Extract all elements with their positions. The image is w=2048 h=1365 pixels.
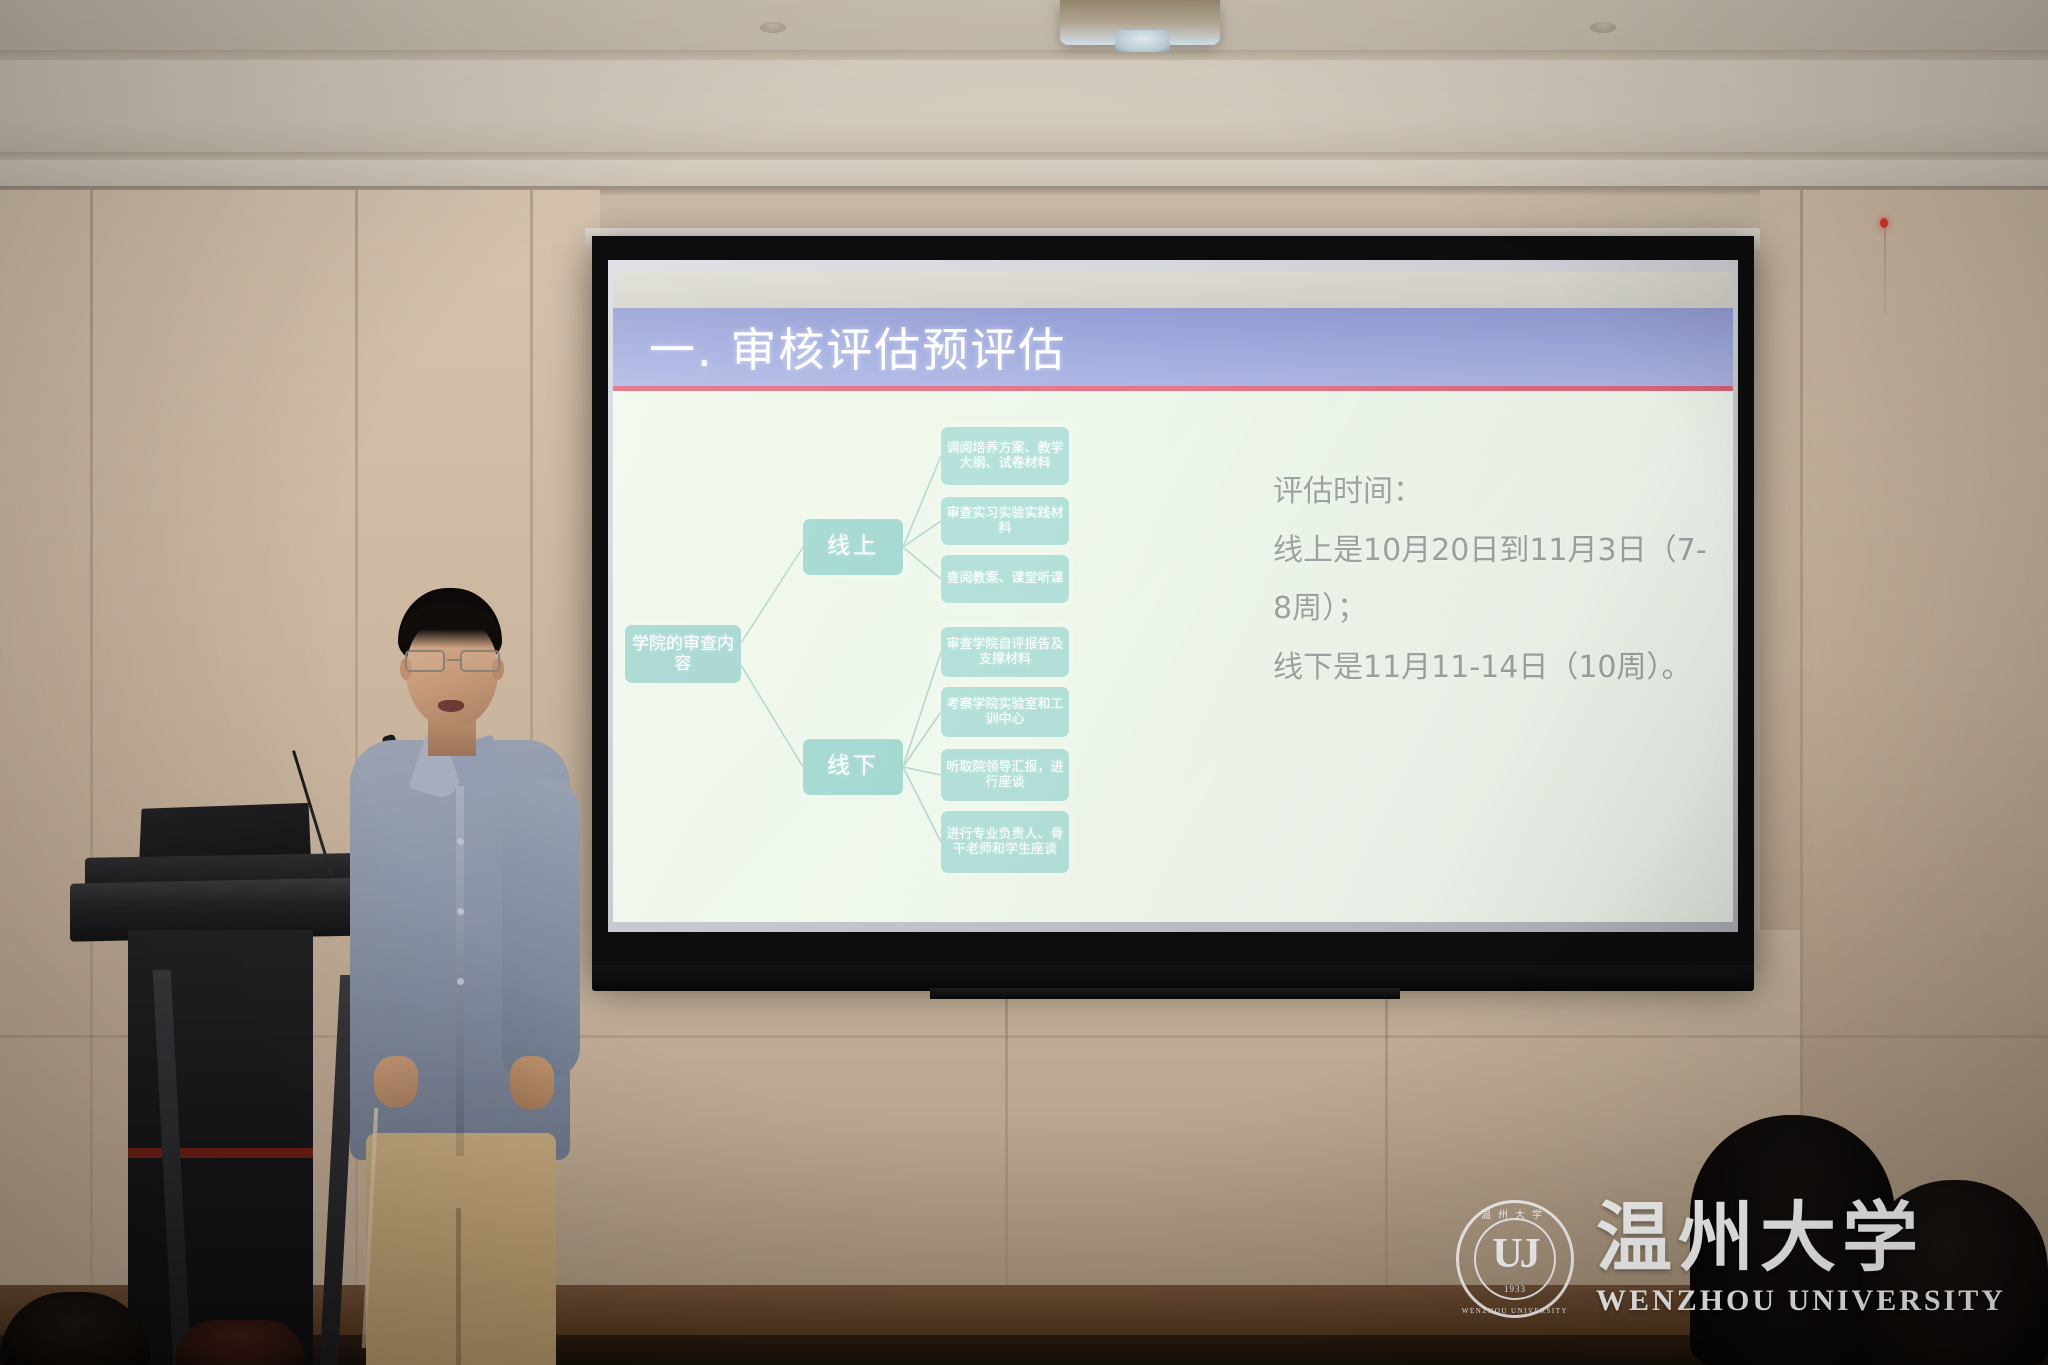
diagram-leaf-node: 调阅培养方案、教学大纲、试卷材料 bbox=[941, 427, 1069, 485]
presenter-hand-right bbox=[510, 1056, 554, 1110]
slide-text-block: 评估时间： 线上是10月20日到11月3日（7-8周）； 线下是11月11-14… bbox=[1273, 463, 1713, 697]
indicator-light bbox=[1880, 218, 1888, 228]
slide-body: 学院的审查内容 线上 线下 调阅培养方案、教学大纲、试卷材料 审查实习实验实践材… bbox=[613, 391, 1733, 922]
smoke-detector-icon bbox=[760, 22, 786, 33]
diagram-root-node: 学院的审查内容 bbox=[625, 625, 741, 683]
diagram-leaf-node: 听取院领导汇报，进行座谈 bbox=[941, 749, 1069, 801]
slide-text-heading: 评估时间： bbox=[1273, 463, 1713, 522]
glasses-icon bbox=[402, 650, 504, 674]
ceiling-upper-panel bbox=[0, 0, 2048, 52]
ceiling-main-panel bbox=[0, 60, 2048, 160]
presenter-shirt-button bbox=[457, 838, 464, 845]
slide-text-line-online: 线上是10月20日到11月3日（7-8周）； bbox=[1273, 522, 1713, 639]
photo-scene: 一. 审核评估预评估 bbox=[0, 0, 2048, 1365]
glasses-lens-left bbox=[405, 650, 445, 672]
slide-title-bar: 一. 审核评估预评估 bbox=[613, 308, 1733, 386]
diagram-leaf-node: 审查学院自评报告及支撑材料 bbox=[941, 627, 1069, 677]
presenter-arm-right bbox=[502, 778, 580, 1078]
presenter-shirt-button bbox=[457, 908, 464, 915]
projector-lens-icon bbox=[1115, 30, 1170, 52]
audience-member bbox=[175, 1320, 305, 1365]
diagram-leaf-node: 考察学院实验室和工训中心 bbox=[941, 687, 1069, 737]
podium-accent-stripe bbox=[128, 1148, 313, 1158]
audience-member bbox=[1862, 1180, 2048, 1365]
presenter-hair-fringe bbox=[400, 606, 500, 648]
diagram-leaf-node: 进行专业负责人、骨干老师和学生座谈 bbox=[941, 811, 1069, 873]
diagram-leaf-node: 审查实习实验实践材料 bbox=[941, 497, 1069, 545]
slide-top-strip bbox=[613, 272, 1733, 310]
presentation-slide: 一. 审核评估预评估 bbox=[613, 272, 1733, 922]
presenter-arm-left bbox=[346, 778, 424, 1078]
presenter-hand-left bbox=[374, 1056, 418, 1108]
presenter bbox=[360, 588, 620, 1365]
presenter-trousers bbox=[366, 1133, 556, 1365]
projection-screen-weight-bar bbox=[930, 988, 1400, 999]
ceiling-soffit bbox=[0, 160, 2048, 188]
wall-panel-seam bbox=[90, 190, 93, 1365]
hanging-wire bbox=[1884, 228, 1886, 318]
presenter-mouth bbox=[438, 700, 464, 712]
slide-text-line-offline: 线下是11月11-14日（10周）。 bbox=[1273, 639, 1713, 698]
smoke-detector-icon bbox=[1590, 22, 1616, 33]
presenter-trouser-seam bbox=[456, 1208, 461, 1365]
diagram-leaf-node: 查阅教案、课堂听课 bbox=[941, 555, 1069, 603]
glasses-lens-right bbox=[460, 650, 500, 672]
slide-diagram: 学院的审查内容 线上 线下 调阅培养方案、教学大纲、试卷材料 审查实习实验实践材… bbox=[613, 391, 1253, 922]
presenter-shirt-button bbox=[457, 978, 464, 985]
diagram-branch-offline: 线下 bbox=[803, 739, 903, 795]
diagram-branch-online: 线上 bbox=[803, 519, 903, 575]
slide-title: 一. 审核评估预评估 bbox=[649, 314, 1066, 380]
